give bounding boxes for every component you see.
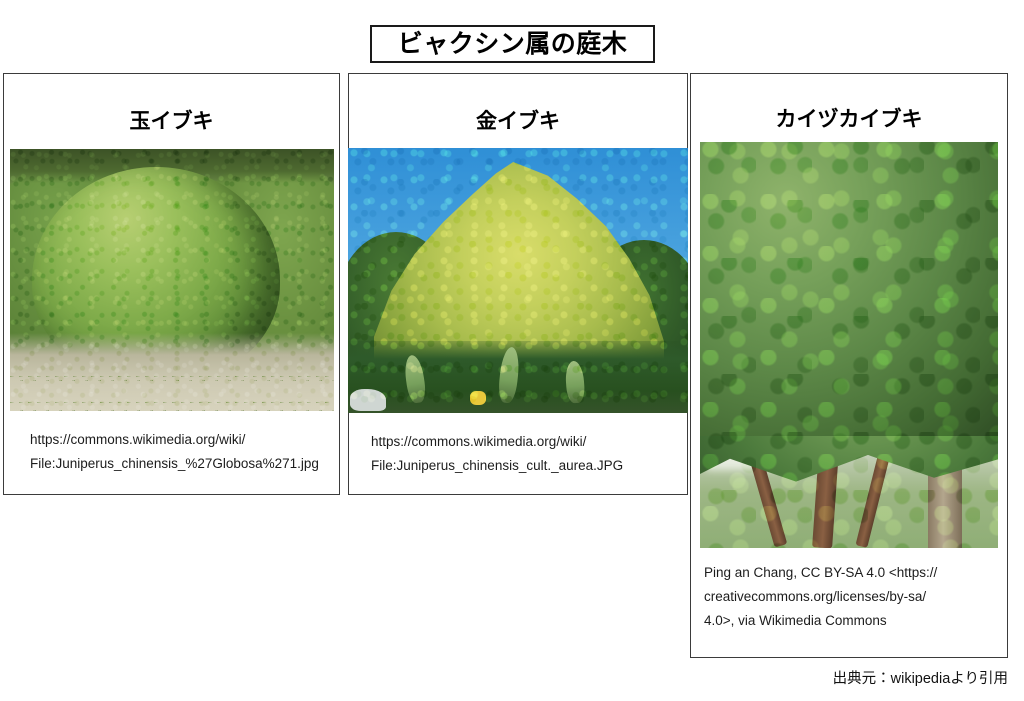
photo-kaizuka-ibuki — [700, 142, 998, 548]
source-note: 出典元：wikipediaより引用 — [833, 672, 1008, 687]
caption-kin-ibuki: https://commons.wikimedia.org/wiki/ File… — [371, 430, 687, 477]
foliage-texture — [348, 148, 688, 413]
photo-kin-ibuki — [348, 148, 688, 413]
panel-kin-ibuki: 金イブキ https://commons.wikimedia.org/wiki/… — [348, 73, 688, 495]
panel-heading-kin-ibuki: 金イブキ — [349, 111, 687, 132]
panel-heading-tama-ibuki: 玉イブキ — [4, 111, 339, 132]
page-title: ビャクシン属の庭木 — [398, 32, 628, 57]
panel-heading-kaizuka-ibuki: カイヅカイブキ — [691, 109, 1007, 130]
caption-tama-ibuki: https://commons.wikimedia.org/wiki/ File… — [30, 428, 339, 475]
panel-tama-ibuki: 玉イブキ https://commons.wikimedia.org/wiki/… — [3, 73, 340, 495]
photo-tama-ibuki — [10, 149, 334, 411]
panel-kaizuka-ibuki: カイヅカイブキ Ping an Chang, CC BY-SA 4.0 <htt… — [690, 73, 1008, 658]
foliage-texture — [10, 149, 334, 411]
foliage-texture — [700, 142, 998, 548]
slide-title-box: ビャクシン属の庭木 — [370, 25, 655, 63]
caption-kaizuka-ibuki: Ping an Chang, CC BY-SA 4.0 <https:// cr… — [704, 561, 1007, 633]
